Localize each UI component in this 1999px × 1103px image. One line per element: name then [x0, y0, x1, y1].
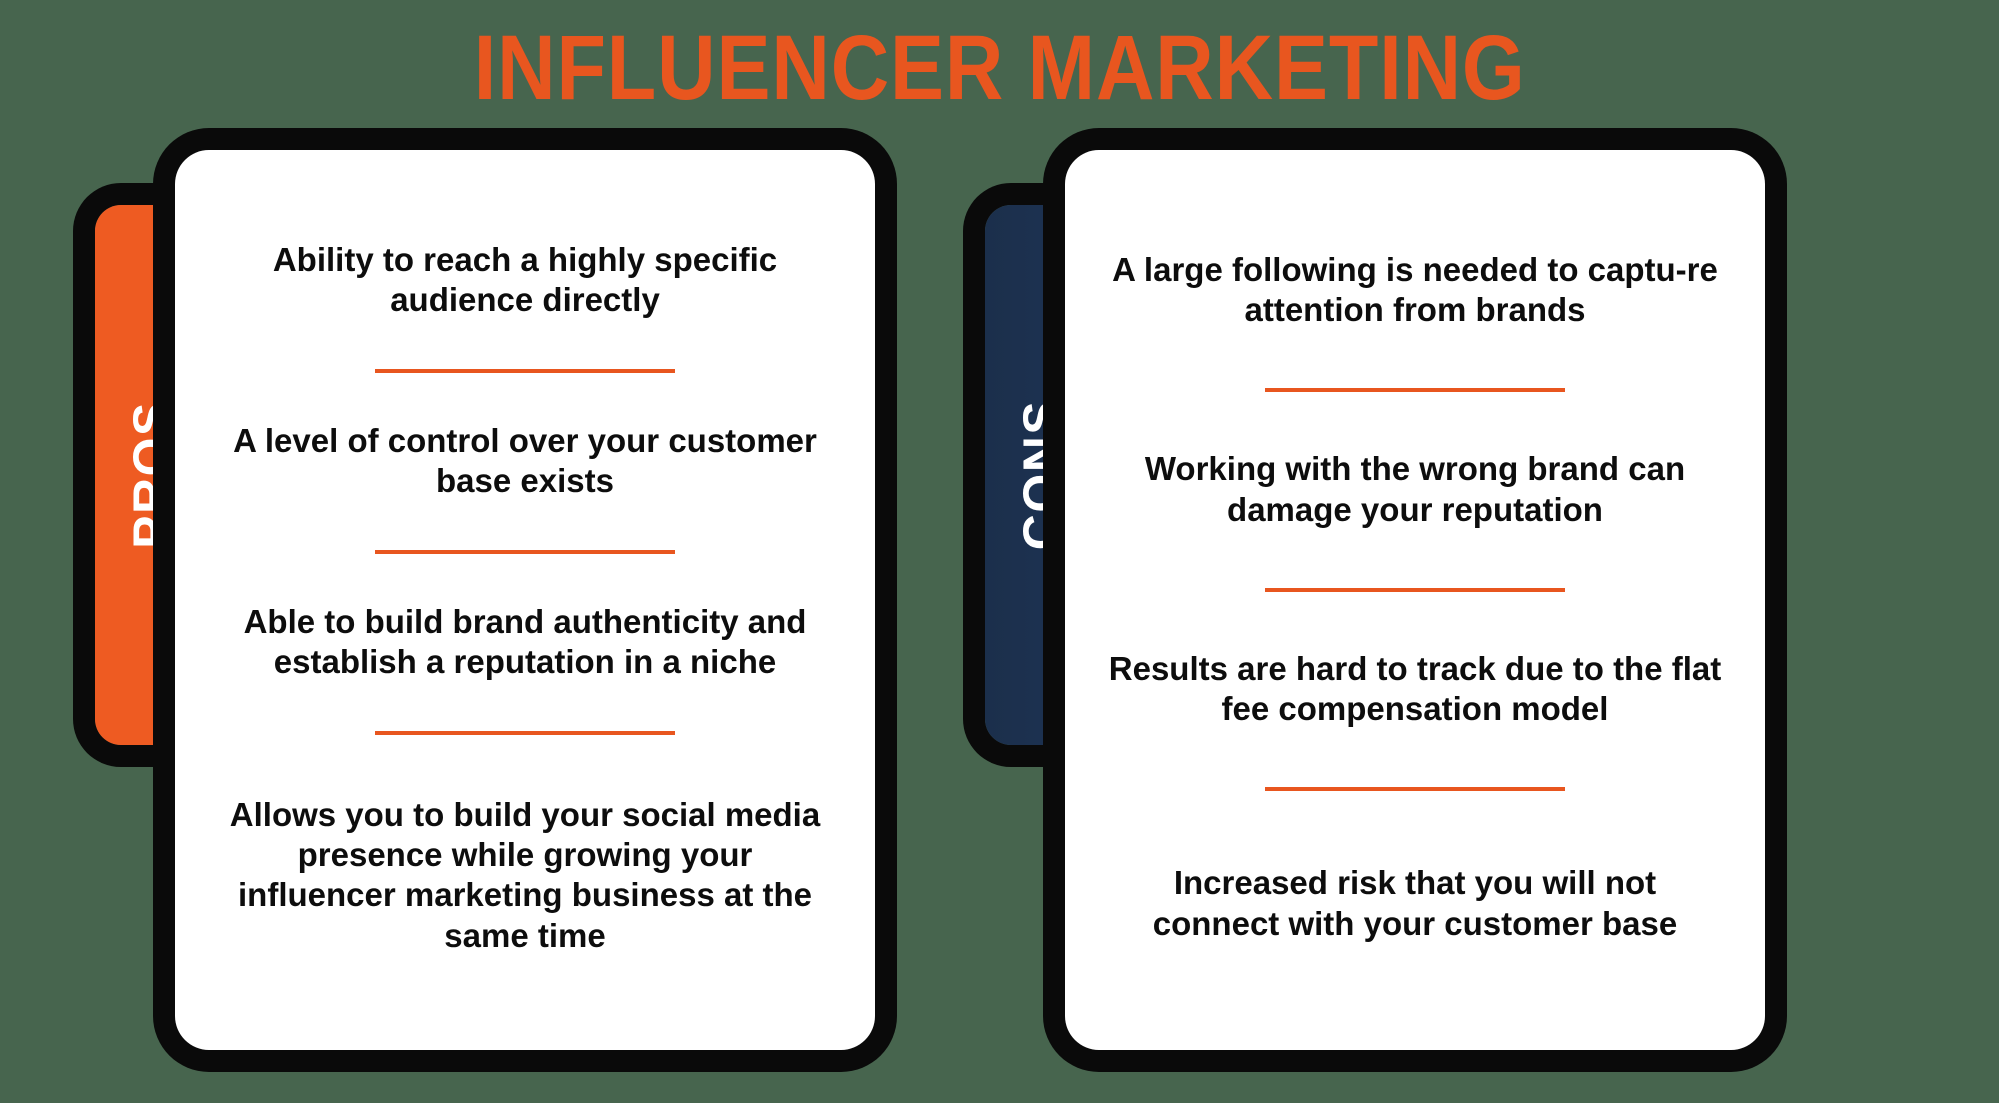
- page-title-container: INFLUENCER MARKETING: [0, 22, 1999, 114]
- cons-column: CONS A large following is needed to capt…: [985, 150, 1845, 1050]
- pros-item-1: Ability to reach a highly specific audie…: [209, 192, 841, 369]
- pros-item-2: A level of control over your customer ba…: [209, 373, 841, 550]
- cons-card: A large following is needed to captu-re …: [1065, 150, 1765, 1050]
- pros-item-list: Ability to reach a highly specific audie…: [209, 192, 841, 1016]
- pros-item-3: Able to build brand authenticity and est…: [209, 554, 841, 731]
- pros-cons-board: PROS Ability to reach a highly specific …: [0, 150, 1999, 1080]
- cons-item-4: Increased risk that you will not connect…: [1099, 791, 1731, 1016]
- page-title: INFLUENCER MARKETING: [473, 22, 1525, 114]
- cons-tab-label: CONS: [1012, 400, 1070, 550]
- cons-item-3: Results are hard to track due to the fla…: [1099, 592, 1731, 788]
- cons-item-2: Working with the wrong brand can damage …: [1099, 392, 1731, 588]
- pros-column: PROS Ability to reach a highly specific …: [95, 150, 955, 1050]
- pros-card: Ability to reach a highly specific audie…: [175, 150, 875, 1050]
- cons-item-list: A large following is needed to captu-re …: [1099, 192, 1731, 1016]
- pros-item-4: Allows you to build your social media pr…: [209, 735, 841, 1016]
- pros-tab-label: PROS: [122, 401, 180, 549]
- cons-item-1: A large following is needed to captu-re …: [1099, 192, 1731, 388]
